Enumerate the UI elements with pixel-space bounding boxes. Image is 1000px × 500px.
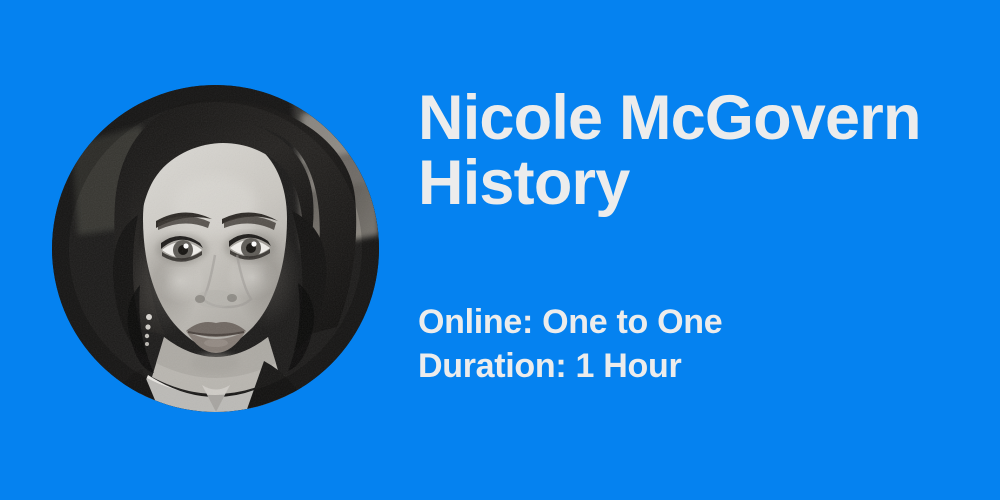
session-details: Online: One to One Duration: 1 Hour <box>418 300 958 388</box>
tutor-profile-card: Nicole McGovern History Online: One to O… <box>0 0 1000 500</box>
detail-duration: Duration: 1 Hour <box>418 344 958 388</box>
detail-online-format: Online: One to One <box>418 300 958 344</box>
tutor-name-subject-heading: Nicole McGovern History <box>418 86 958 216</box>
profile-photo-icon <box>52 85 379 412</box>
tutor-info: Nicole McGovern History Online: One to O… <box>418 86 958 216</box>
avatar <box>52 85 379 412</box>
